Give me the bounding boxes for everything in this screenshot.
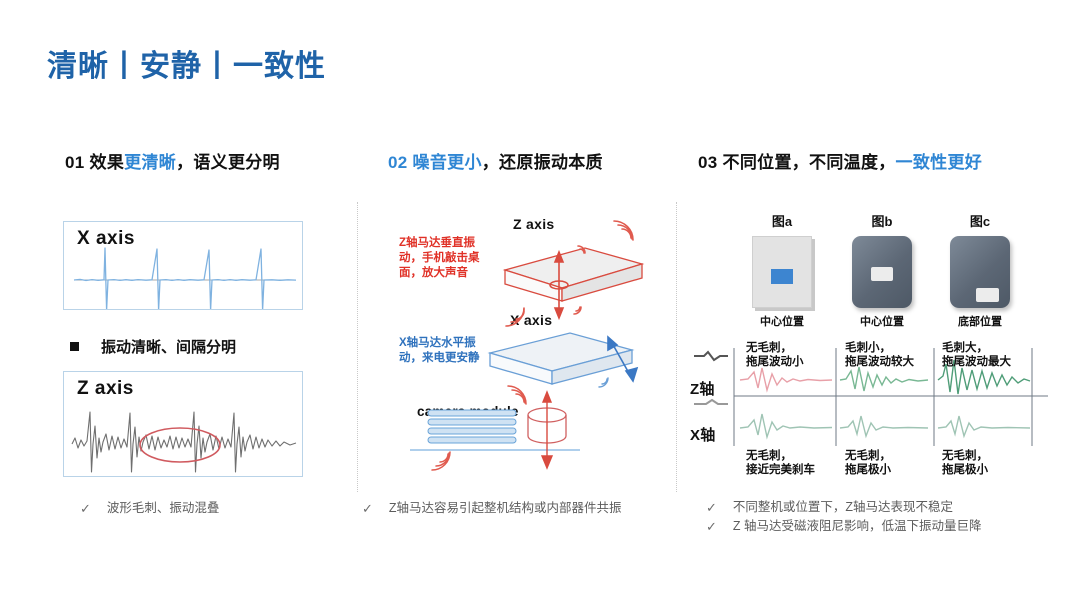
check-text-col3-2: Z 轴马达受磁液阻尼影响，低温下振动量巨降 [733, 518, 982, 535]
table-note-x-c: 无毛刺，拖尾极小 [942, 449, 988, 477]
waveform-chart-z-axis [64, 372, 303, 477]
wave-x-b [840, 416, 928, 436]
phone-figure-a: 图a 中心位置 [740, 211, 824, 329]
check-icon: ✓ [706, 518, 717, 535]
wave-z-b [840, 367, 928, 391]
waveform-box-z-axis: Z axis [63, 371, 303, 477]
phone-body-c [950, 236, 1010, 308]
wave-z-a [740, 368, 832, 390]
column-header-01-highlight: 更清晰 [124, 153, 176, 172]
wave-x-c [938, 416, 1030, 436]
camera-module-diagram [410, 386, 580, 470]
column-header-01: 01 效果更清晰，语义更分明 [65, 148, 280, 173]
mid-bullet-row: 振动清晰、间隔分明 [70, 336, 310, 357]
mid-bullet-text: 振动清晰、间隔分明 [101, 336, 236, 357]
table-row-label-x: X轴 [690, 424, 715, 445]
phone-figure-b: 图b 中心位置 [840, 211, 924, 329]
phone-figure-a-caption: 图a [740, 211, 824, 230]
square-bullet-icon [70, 342, 79, 351]
column-divider-2 [676, 202, 677, 492]
column-header-01-post: ，语义更分明 [176, 153, 280, 172]
check-text-col1: 波形毛刺、振动混叠 [107, 500, 220, 517]
table-note-z-a: 无毛刺，拖尾波动小 [746, 341, 804, 369]
check-row-col3-1: ✓ 不同整机或位置下，Z轴马达表现不稳定 [706, 499, 953, 516]
column-header-03-pre: 不同位置，不同温度， [723, 153, 896, 172]
column-header-02-highlight: 噪音更小 [413, 153, 482, 172]
table-note-z-c: 毛刺大，拖尾波动最大 [942, 341, 1011, 369]
phone-figure-b-caption: 图b [840, 211, 924, 230]
slide: 清晰丨安静丨一致性 01 效果更清晰，语义更分明 02 噪音更小，还原振动本质 … [0, 0, 1080, 608]
motor-indicator-a [771, 269, 793, 284]
check-text-col2: Z轴马达容易引起整机结构或内部器件共振 [389, 500, 622, 517]
waveform-chart-x-axis [64, 222, 303, 310]
check-row-col3-2: ✓ Z 轴马达受磁液阻尼影响，低温下振动量巨降 [706, 518, 982, 535]
phone-figure-b-position: 中心位置 [840, 313, 924, 329]
column-number-03: 03 [698, 153, 723, 172]
motor-indicator-c [976, 288, 999, 302]
phone-vibration-diagram [380, 200, 650, 500]
check-row-col1: ✓ 波形毛刺、振动混叠 [80, 500, 219, 517]
column-header-03: 03 不同位置，不同温度，一致性更好 [698, 148, 982, 173]
check-row-col2: ✓ Z轴马达容易引起整机结构或内部器件共振 [362, 500, 622, 517]
check-icon: ✓ [706, 499, 717, 516]
table-note-x-a: 无毛刺，接近完美刹车 [746, 449, 815, 477]
row-icon-x [694, 400, 728, 404]
table-note-z-b: 毛刺小，拖尾波动较大 [845, 341, 914, 369]
motor-indicator-b [871, 267, 893, 281]
row-icon-z [694, 352, 728, 360]
phone-slab-z [505, 248, 642, 301]
phone-figure-c-caption: 图c [938, 211, 1022, 230]
waveform-box-x-axis: X axis [63, 221, 303, 310]
sound-wave-icon-blue [599, 378, 608, 387]
table-note-x-b: 无毛刺，拖尾极小 [845, 449, 891, 477]
phone-body-b [852, 236, 912, 308]
wave-x-a [740, 414, 832, 437]
phone-figure-a-position: 中心位置 [740, 313, 824, 329]
column-header-01-pre: 效果 [90, 153, 125, 172]
column-header-02-post: ，还原振动本质 [482, 153, 603, 172]
camera-vibration-arrow [542, 392, 552, 468]
page-title: 清晰丨安静丨一致性 [47, 41, 326, 85]
check-icon: ✓ [362, 500, 373, 517]
phone-figure-c-position: 底部位置 [938, 313, 1022, 329]
check-icon: ✓ [80, 500, 91, 517]
column-header-02: 02 噪音更小，还原振动本质 [388, 148, 603, 173]
phone-body-a [752, 236, 812, 308]
column-number-01: 01 [65, 153, 90, 172]
column-number-02: 02 [388, 153, 413, 172]
column-header-03-highlight: 一致性更好 [896, 153, 983, 172]
table-row-label-z: Z轴 [690, 378, 715, 399]
phone-figure-c: 图c 底部位置 [938, 211, 1022, 329]
check-text-col3-1: 不同整机或位置下，Z轴马达表现不稳定 [733, 499, 953, 516]
column-divider-1 [357, 202, 358, 492]
